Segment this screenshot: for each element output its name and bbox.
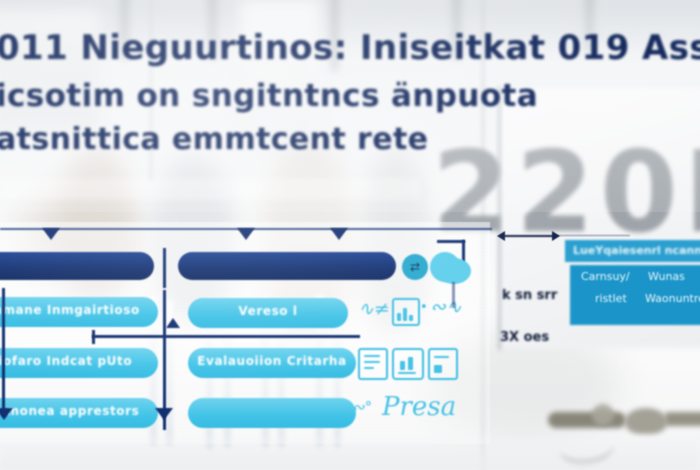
badge-link[interactable]: ⇄ (402, 254, 428, 280)
list-item-label: Evalauoiion Critarha (188, 354, 356, 368)
info-panel-cell: Carnsuy/ (581, 270, 630, 283)
sketch-wave-icon: ∾∿ (430, 296, 462, 318)
desk-object (625, 408, 667, 434)
link-icon: ⇄ (402, 254, 428, 280)
title-line-2: icsotim on sngitntncs änpuota (0, 78, 538, 114)
list-item-label: unmane Inmgairtioso (0, 303, 158, 317)
info-panel-title: LueYqaiesenrl ncann (573, 244, 700, 257)
bar-divider (163, 248, 166, 288)
navy-bar-left[interactable] (0, 252, 154, 280)
list-item[interactable]: Vereso l (188, 298, 348, 328)
arrow-right-icon (552, 231, 560, 241)
info-panel-header[interactable]: LueYqaiesenrl ncann (565, 240, 700, 262)
connector-horizontal (92, 335, 360, 338)
list-item[interactable]: riofaro Indcat pUto (0, 348, 158, 378)
title-line-3: atsnittica emmtcent rete (0, 122, 428, 157)
document-icon (358, 348, 388, 380)
board-label-2: 3X oes (500, 330, 549, 345)
connector-vertical (92, 330, 95, 344)
list-item-label: Vereso l (188, 304, 348, 318)
connector-vertical (2, 288, 5, 416)
arrow-up-icon (166, 318, 180, 328)
arrow-down-icon (0, 408, 13, 420)
board-connector (437, 240, 465, 243)
desk-object (665, 412, 700, 426)
info-panel-cell: ristlet (595, 292, 627, 305)
navy-bar-right[interactable] (178, 252, 396, 280)
board-connector (452, 282, 455, 308)
analysis-icon (392, 348, 424, 380)
report-icon (428, 348, 458, 380)
sketch-glasses-icon: ∾° (352, 398, 372, 416)
board-label-1: k sn srr (502, 288, 557, 303)
badge-node[interactable] (437, 258, 471, 284)
info-panel-cell: Waonuntre (645, 292, 700, 305)
chart-doc-icon (392, 298, 420, 326)
dot-icon: • (420, 300, 428, 315)
board-connector (462, 240, 465, 262)
arrow-left-icon (497, 231, 505, 241)
list-item[interactable]: ommonea apprestors (0, 398, 158, 428)
arrow-down-icon (330, 228, 348, 240)
list-item-label: riofaro Indcat pUto (0, 354, 158, 368)
arrow-down-icon (42, 228, 60, 240)
sketch-label: Presa (382, 392, 456, 422)
desk-object (592, 404, 614, 426)
sketch-squiggle-icon: ∿≠ (358, 298, 390, 320)
double-arrow-line (504, 235, 556, 237)
info-panel-cell: Wunas (648, 270, 685, 283)
list-item[interactable] (188, 398, 356, 428)
title-line-1: 011 Nieguurtinos: Iniseitkat 019 Asssmnt… (0, 28, 700, 68)
screenshot-root: 220I 011 Nieguurtinos: Iniseitkat 019 As… (0, 0, 700, 470)
list-item[interactable]: Evalauoiion Critarha (188, 348, 356, 378)
desk-object (548, 412, 626, 428)
list-item[interactable]: unmane Inmgairtioso (0, 297, 158, 327)
list-item-label: ommonea apprestors (0, 404, 158, 418)
arrow-down-icon (237, 228, 255, 240)
double-arrow-tail (556, 235, 630, 236)
arrow-down-icon (155, 408, 173, 420)
